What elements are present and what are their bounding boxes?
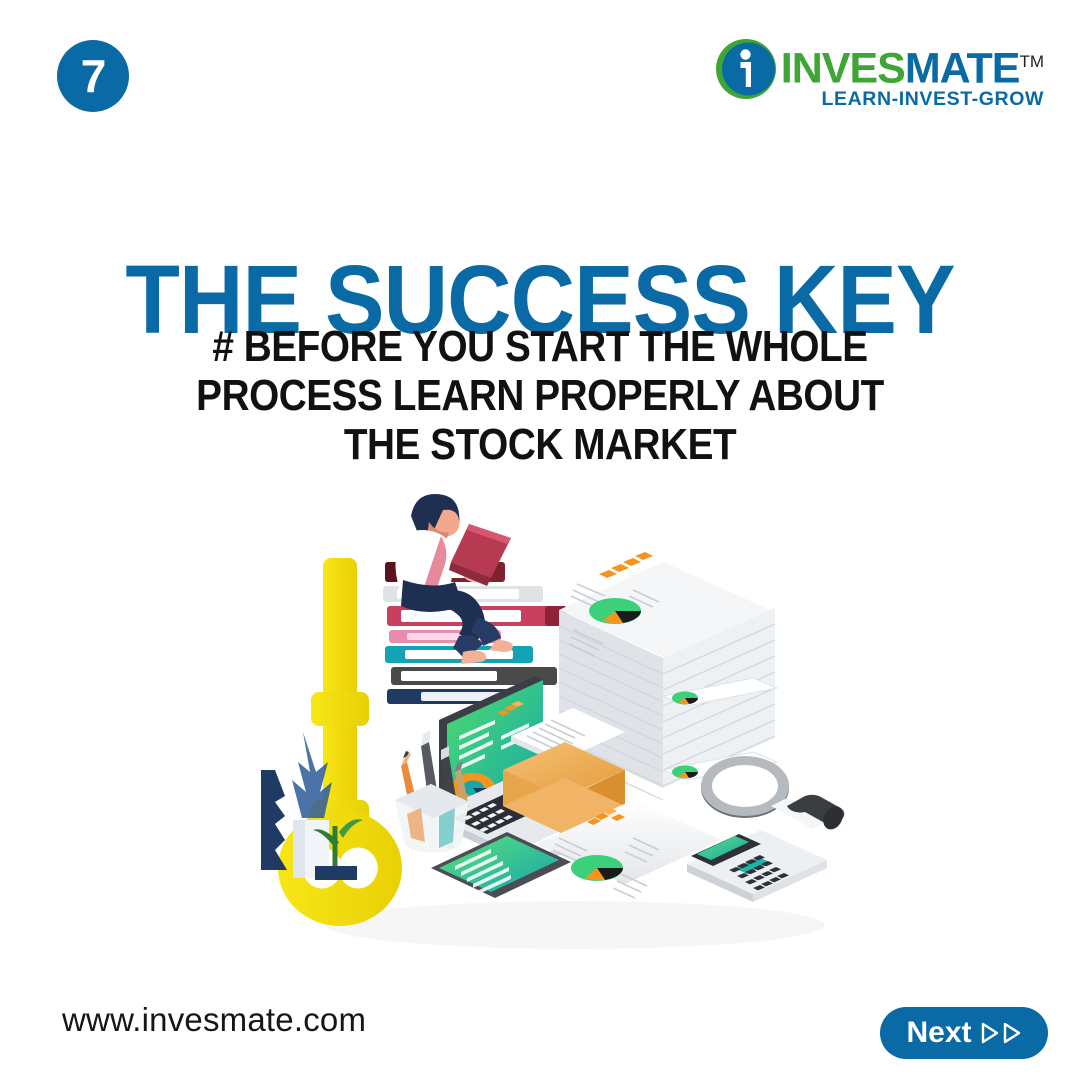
- magnifying-glass-graphic: [701, 756, 847, 833]
- next-button[interactable]: Next: [880, 1007, 1048, 1059]
- subtitle-line-3: THE STOCK MARKET: [179, 420, 901, 469]
- next-button-label: Next: [906, 1016, 971, 1050]
- page-subtitle: # BEFORE YOU START THE WHOLE PROCESS LEA…: [179, 322, 901, 469]
- trademark-symbol: TM: [1019, 52, 1044, 71]
- subtitle-line-1: # BEFORE YOU START THE WHOLE: [179, 322, 901, 371]
- brand-logo: INVESMATETM LEARN-INVEST-GROW: [715, 38, 1044, 109]
- isometric-learning-analytics-illustration: [215, 470, 875, 960]
- poster-canvas: 7 INVESMATETM LEARN-INVEST-GROW THE SUCC…: [0, 0, 1080, 1080]
- brand-name-part2: MATE: [905, 44, 1020, 92]
- brand-name-part1: INVES: [781, 44, 905, 92]
- slide-number-value: 7: [81, 49, 106, 103]
- brand-wordmark: INVESMATETM LEARN-INVEST-GROW: [781, 38, 1044, 109]
- slide-number-badge: 7: [57, 40, 129, 112]
- brand-tagline: LEARN-INVEST-GROW: [781, 89, 1044, 109]
- invesmate-circle-i-icon: [715, 38, 777, 100]
- double-play-arrow-icon: [980, 1022, 1022, 1044]
- website-url[interactable]: www.invesmate.com: [62, 1001, 366, 1039]
- subtitle-line-2: PROCESS LEARN PROPERLY ABOUT: [179, 371, 901, 420]
- brand-name: INVESMATETM: [781, 40, 1044, 90]
